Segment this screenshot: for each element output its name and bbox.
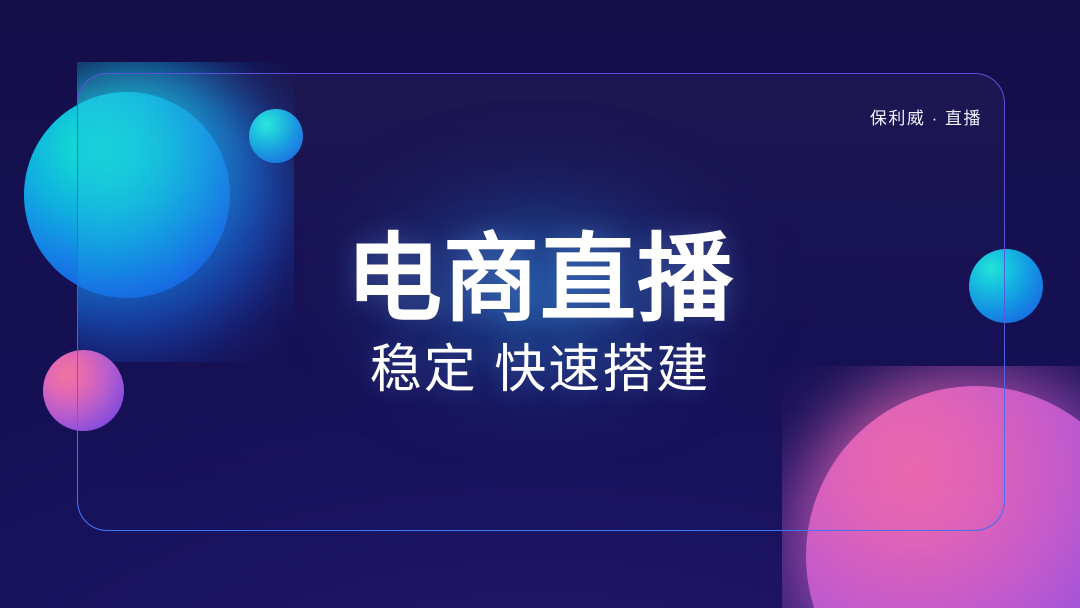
slide-canvas: 保利威 · 直播 电商直播 稳定 快速搭建 <box>0 0 1080 608</box>
page-title: 电商直播 <box>0 232 1080 328</box>
headline-block: 电商直播 稳定 快速搭建 <box>0 232 1080 396</box>
teal-dot-small <box>249 109 303 163</box>
page-subtitle: 稳定 快速搭建 <box>0 344 1080 396</box>
brand-label: 保利威 · 直播 <box>870 104 982 129</box>
